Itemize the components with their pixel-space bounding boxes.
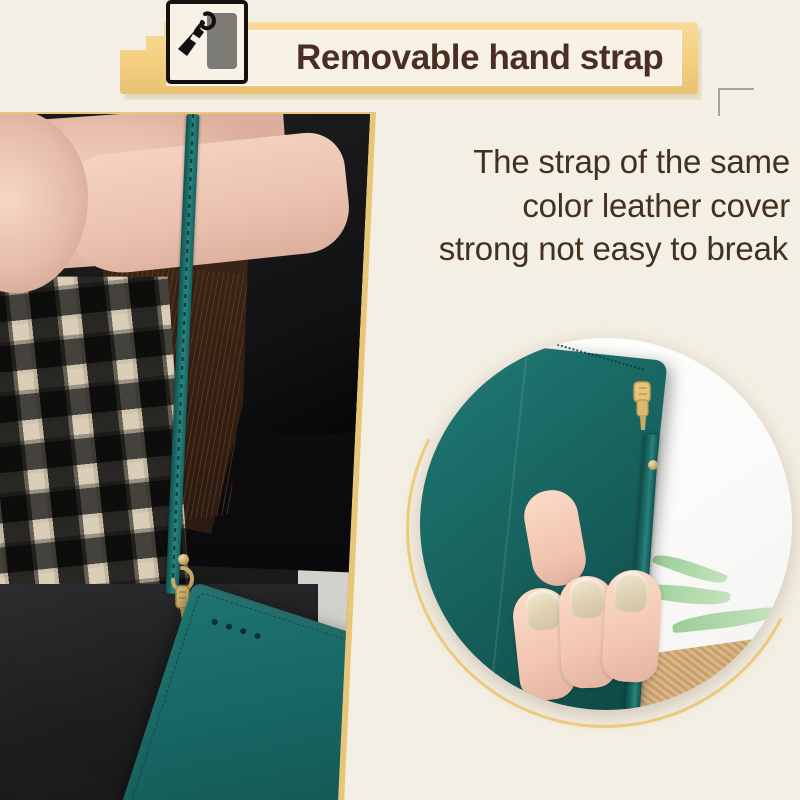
description-line-2: color leather cover xyxy=(380,184,790,228)
gold-strap-hardware-icon xyxy=(628,380,658,440)
description-line-1: The strap of the same xyxy=(380,140,790,184)
strap-clasp-icon xyxy=(174,8,220,74)
fingers-group xyxy=(516,570,676,710)
fingernail xyxy=(569,577,604,618)
hand-holding-case-closeup-photo xyxy=(420,338,792,710)
header-banner: Removable hand strap xyxy=(120,8,730,108)
description-text: The strap of the same color leather cove… xyxy=(380,140,790,271)
promo-banner-page: Removable hand strap xyxy=(0,0,800,800)
hand-strap-icon xyxy=(166,0,248,84)
decorative-corner-bracket xyxy=(718,88,754,116)
model-wearing-wristlet-photo xyxy=(0,114,392,800)
page-title: Removable hand strap xyxy=(296,28,800,88)
fingernail xyxy=(613,571,649,613)
strap-rivet xyxy=(178,554,189,565)
description-line-3: strong not easy to break xyxy=(380,227,790,271)
strap-rivet-closeup xyxy=(648,460,658,470)
